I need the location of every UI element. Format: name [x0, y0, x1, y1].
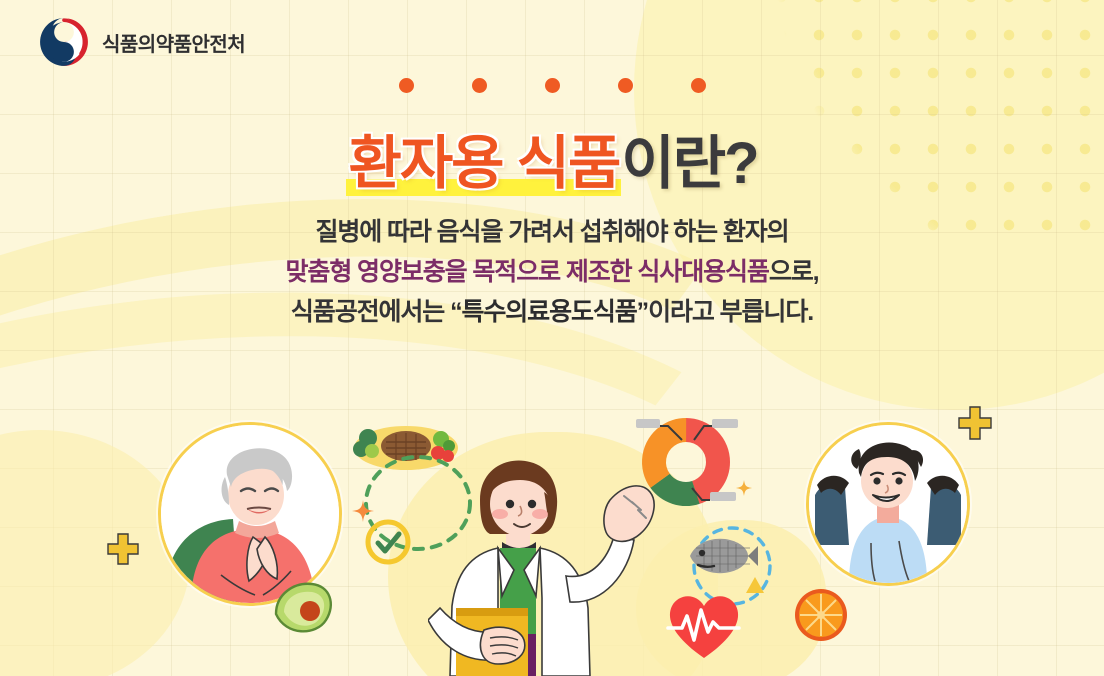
background-dot-pattern — [724, 0, 1104, 240]
description-line-1: 질병에 따라 음식을 가려서 섭취해야 하는 환자의 — [0, 212, 1104, 252]
title-dot — [691, 78, 706, 93]
description-line-2: 맞춤형 영양보충을 목적으로 제조한 식사대용식품으로, — [0, 252, 1104, 292]
background-blob-left — [0, 430, 190, 676]
donut-label-box — [636, 419, 660, 428]
poster-canvas: 식품의약품안전처 환자용 식품이란? 질병에 따라 음식을 가려서 섭취해야 하… — [0, 0, 1104, 676]
check-circle-icon — [364, 518, 412, 566]
page-title: 환자용 식품이란? — [0, 135, 1104, 193]
donut-label-box — [710, 492, 736, 501]
agency-name-label: 식품의약품안전처 — [102, 28, 245, 57]
description-line-3-head: 식품공전에서는 — [291, 298, 450, 326]
title-dot — [618, 78, 633, 93]
young-man-wheelchair-avatar — [806, 422, 970, 586]
title-dot — [545, 78, 560, 93]
nutrition-donut-chart — [616, 404, 756, 516]
sparkle-icon-small — [736, 480, 752, 496]
orange-slice-icon — [794, 588, 848, 642]
description-line-2-tail: 으로, — [769, 258, 819, 286]
plus-icon-left — [104, 532, 142, 570]
description-line-2-emphasis: 맞춤형 영양보충을 목적으로 제조한 식사대용식품 — [286, 258, 769, 286]
page-title-plain: 이란? — [621, 131, 757, 196]
title-dot — [472, 78, 487, 93]
page-title-highlight: 환자용 식품 — [346, 131, 621, 196]
fish-icon — [686, 534, 760, 578]
background-wedge-top-right — [634, 0, 1104, 410]
agency-logo: 식품의약품안전처 — [38, 16, 245, 68]
description-text: 질병에 따라 음식을 가려서 섭취해야 하는 환자의 맞춤형 영양보충을 목적으… — [0, 212, 1104, 332]
title-dot — [399, 78, 414, 93]
heartbeat-icon — [664, 588, 744, 660]
korea-government-taegeuk-icon — [38, 16, 90, 68]
elderly-woman-illustration — [161, 425, 339, 603]
title-dot-row — [0, 78, 1104, 93]
triangle-icon — [745, 576, 765, 594]
young-man-wheelchair-illustration — [809, 425, 967, 583]
donut-label-box — [712, 419, 738, 428]
description-line-3: 식품공전에서는 “특수의료용도식품”이라고 부릅니다. — [0, 292, 1104, 332]
description-line-3-quoted: “특수의료용도식품” — [450, 298, 648, 326]
avocado-icon — [268, 578, 338, 638]
description-line-3-tail: 이라고 부릅니다. — [648, 298, 813, 326]
plus-icon-right — [955, 405, 995, 445]
